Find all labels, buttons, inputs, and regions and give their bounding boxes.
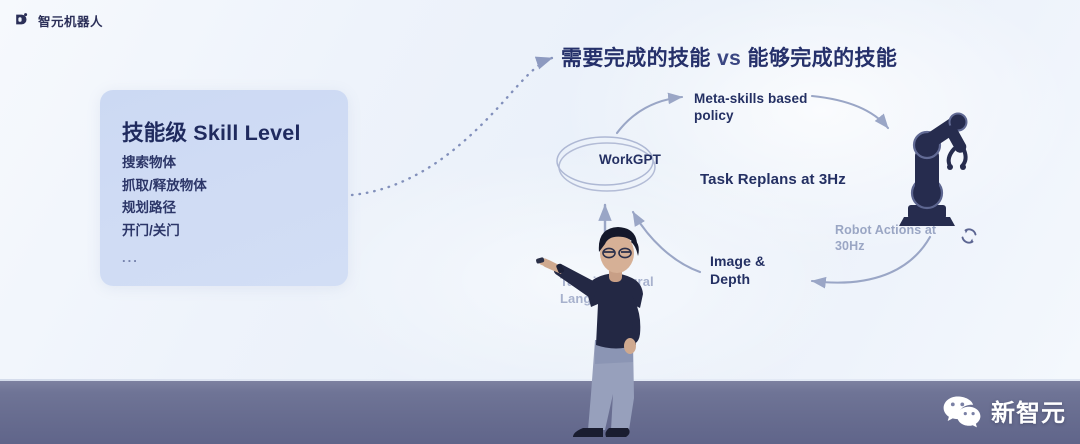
slide-screenshot: 智元机器人 技能级 Skill Level 搜索物体 抓取/释放物体 规划路径 …	[0, 0, 1080, 444]
brand-logo: 智元机器人	[14, 11, 103, 30]
headline-vs: vs	[717, 47, 741, 70]
label-task-replans: Task Replans at 3Hz	[700, 172, 846, 189]
headline-right: 能够完成的技能	[747, 47, 897, 70]
watermark-text: 新智元	[991, 393, 1066, 428]
agibot-d-logo-icon	[14, 12, 31, 29]
list-item-ellipsis: ...	[122, 242, 207, 270]
watermark: 新智元	[942, 393, 1066, 428]
list-item: 抓取/释放物体	[122, 175, 207, 198]
wechat-icon	[942, 394, 982, 428]
skill-card-list: 搜索物体 抓取/释放物体 规划路径 开门/关门 ...	[122, 152, 207, 270]
skill-card-title: 技能级 Skill Level	[122, 116, 301, 147]
refresh-cycle-icon	[957, 224, 981, 248]
robot-arm-icon	[886, 105, 996, 233]
label-image-depth: Image & Depth	[710, 252, 765, 288]
slide-headline: 需要完成的技能 vs 能够完成的技能	[561, 42, 897, 72]
label-meta-skills-policy: Meta-skills based policy	[694, 90, 808, 124]
brand-name: 智元机器人	[38, 11, 103, 30]
list-item: 规划路径	[122, 197, 207, 220]
headline-left: 需要完成的技能	[561, 47, 711, 70]
list-item: 搜索物体	[122, 152, 207, 175]
skill-level-card: 技能级 Skill Level 搜索物体 抓取/释放物体 规划路径 开门/关门 …	[100, 90, 348, 286]
presenter-pointing-icon	[533, 222, 695, 444]
node-label-workgpt: WorkGPT	[575, 152, 685, 169]
list-item: 开门/关门	[122, 220, 207, 243]
